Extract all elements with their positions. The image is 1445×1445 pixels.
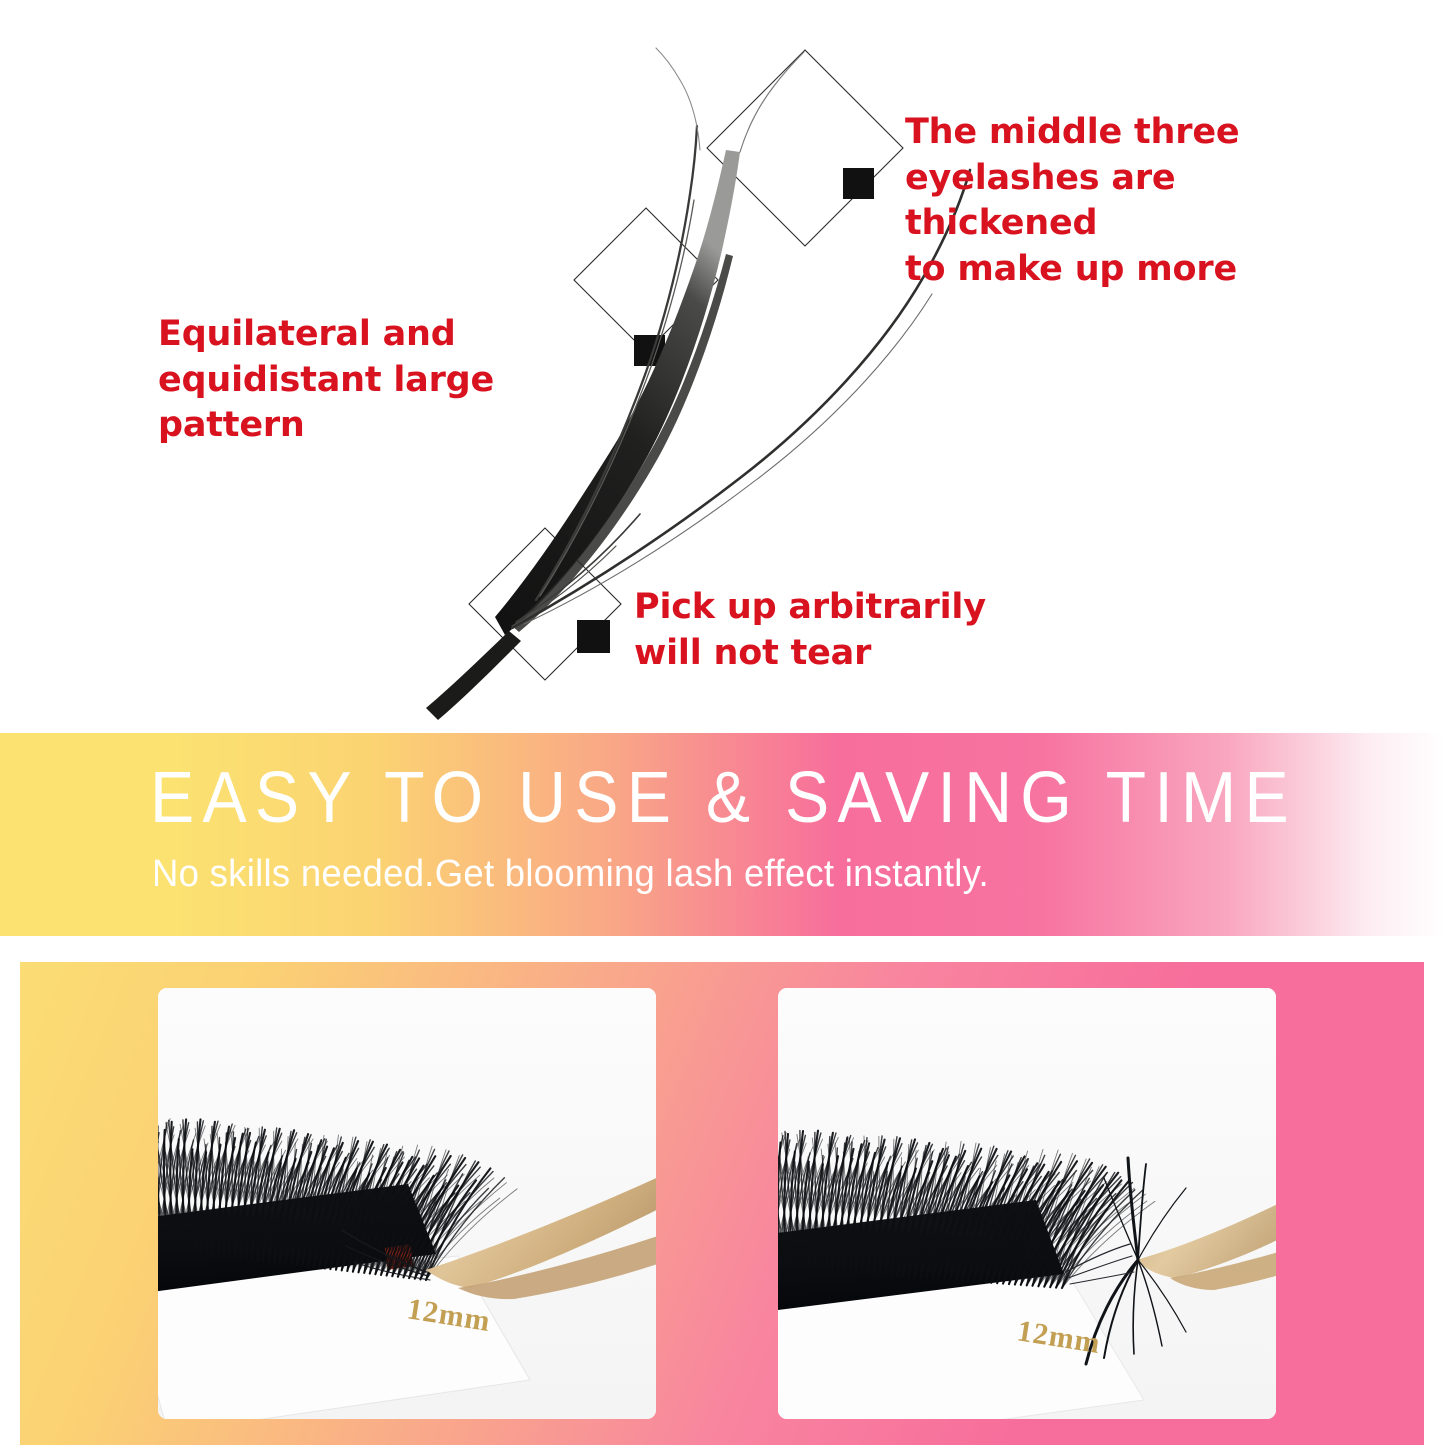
- lash-fan-lifted-photo: 12mm: [778, 988, 1276, 1419]
- photo-card-right: 12mm 12mm: [778, 988, 1276, 1419]
- callout-pick-up: Pick up arbitrarily will not tear: [634, 585, 1034, 676]
- lash-hair-tip-top-right: [740, 52, 804, 152]
- easy-to-use-banner: EASY TO USE & SAVING TIME No skills need…: [0, 733, 1445, 936]
- product-photos-section: 12mm 12mm: [20, 962, 1424, 1445]
- callout-middle-three: The middle three eyelashes are thickened…: [905, 110, 1355, 292]
- callout-equilateral: Equilateral and equidistant large patter…: [158, 312, 628, 449]
- features-illustration-section: The middle three eyelashes are thickened…: [0, 0, 1445, 728]
- lash-base-tail: [426, 631, 521, 720]
- lash-tray-with-tweezers-photo: 12mm: [158, 988, 656, 1419]
- banner-headline: EASY TO USE & SAVING TIME: [150, 757, 1297, 839]
- banner-subheadline: No skills needed.Get blooming lash effec…: [152, 853, 989, 896]
- diamond-marker-middle-three: [707, 50, 903, 246]
- photo-card-left: 12mm 12mm: [158, 988, 656, 1419]
- lash-base-tail-edge: [420, 632, 508, 712]
- lash-hair-tip-top: [656, 48, 700, 150]
